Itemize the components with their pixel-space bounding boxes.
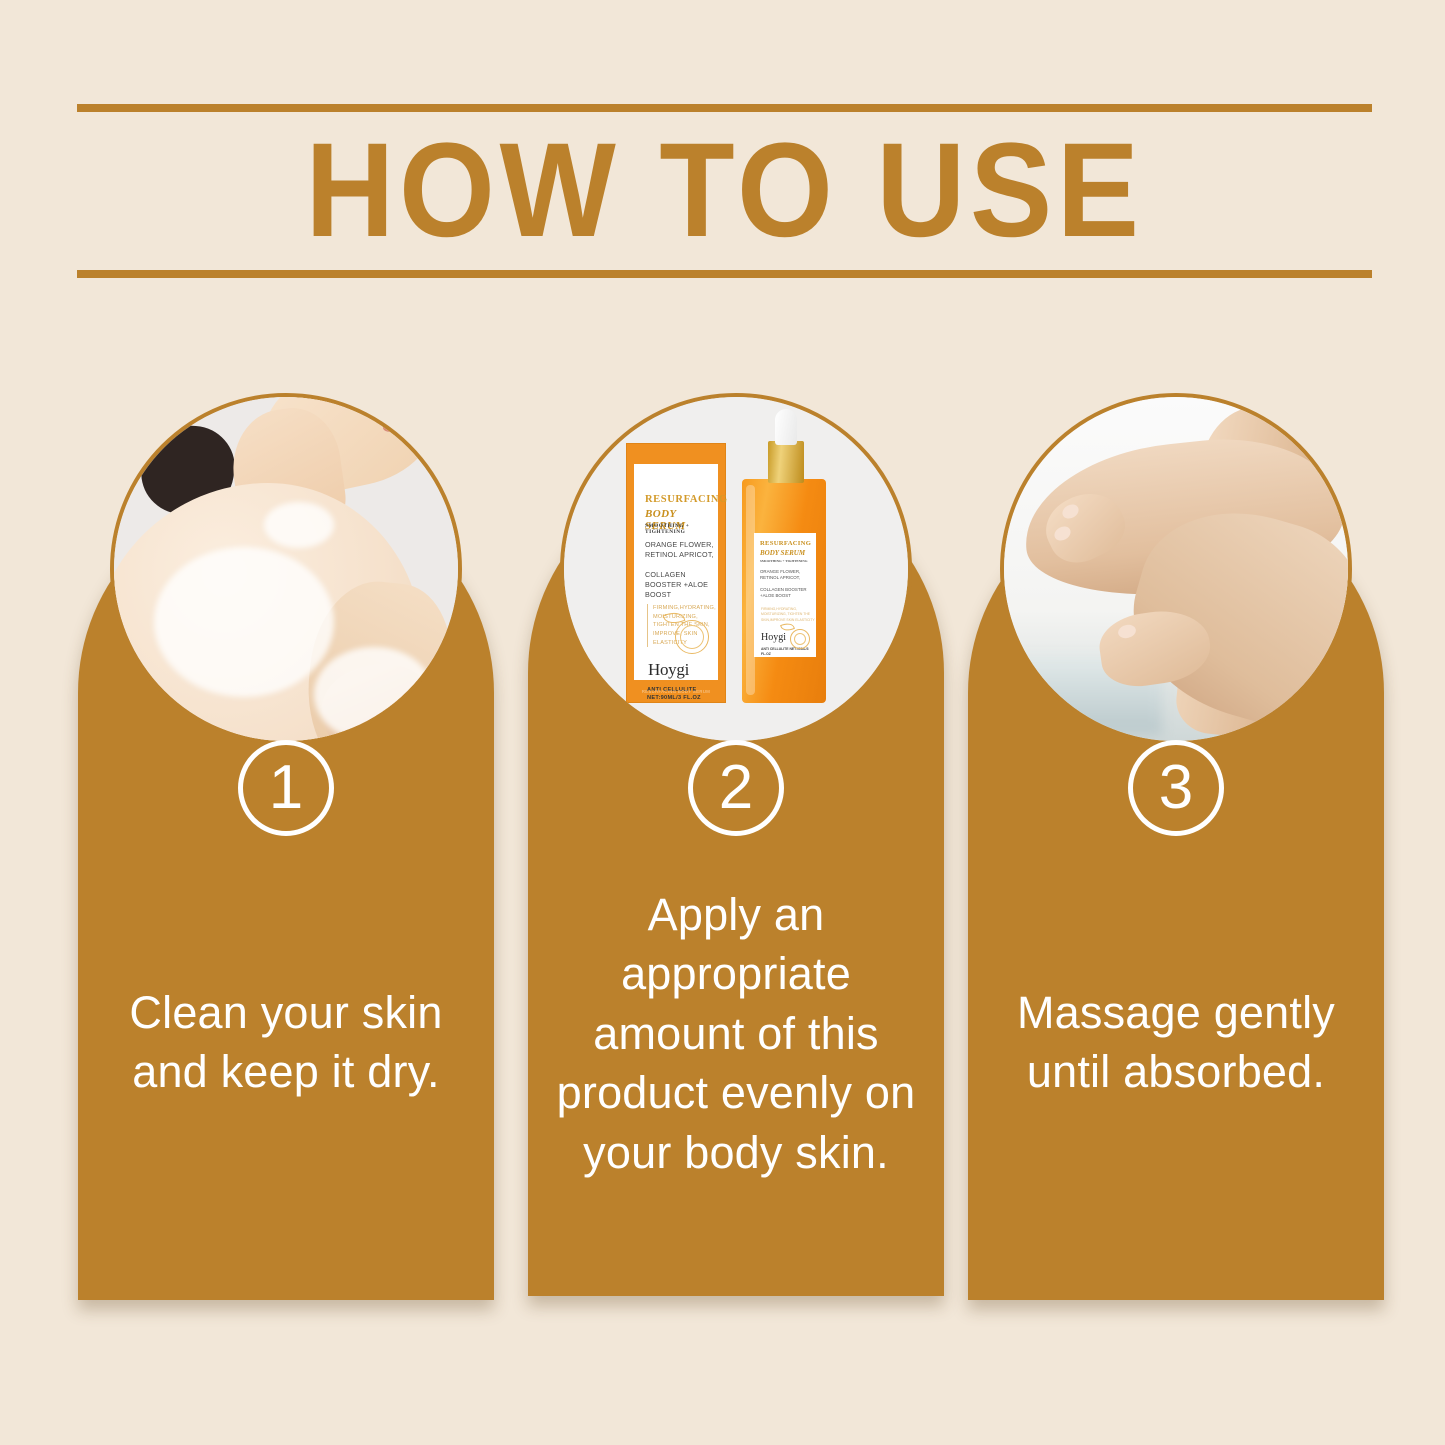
steps-container: 1 Clean your skin and keep it dry. RESUR… — [0, 0, 1445, 1445]
dropper-cap — [775, 409, 797, 445]
bottle-benefits: FIRMING,HYDRATING, MOISTURIZING, TIGHTEN… — [761, 607, 816, 623]
step-3-number-badge: 3 — [1128, 740, 1224, 836]
bottle-collar — [768, 441, 804, 483]
step-card-2: RESURFACING BODY SERUM SMOOTHING + TIGHT… — [528, 465, 944, 1296]
foam-patch — [264, 502, 334, 548]
bottle-ingredients-1: ORANGE FLOWER, RETINOL APRICOT, — [760, 569, 816, 582]
box-heading-1: RESURFACING — [645, 494, 728, 505]
bottle-heading-2: BODY SERUM — [760, 549, 805, 557]
box-brand: Hoygi — [648, 660, 689, 680]
box-footer-text: RESURFACING BODY SERUM — [627, 680, 725, 702]
orange-slice-icon — [675, 620, 709, 654]
bottle-claim: ANTI CELLULITE NET:90ML/3 FL.OZ — [761, 647, 816, 657]
bottle-heading-1: RESURFACING — [760, 540, 811, 547]
step-1-photo — [110, 393, 462, 745]
box-heading-3: SMOOTHING + TIGHTENING — [645, 523, 718, 535]
box-ingredients-1: ORANGE FLOWER, RETINOL APRICOT, — [645, 540, 718, 560]
step-3-caption: Massage gently until absorbed. — [982, 983, 1370, 1102]
step-3-photo — [1000, 393, 1352, 745]
bottle-ingredients-2: COLLAGEN BOOSTER +ALOE BOOST — [760, 587, 816, 600]
step-2-number-badge: 2 — [688, 740, 784, 836]
step-2-photo: RESURFACING BODY SERUM SMOOTHING + TIGHT… — [560, 393, 912, 745]
serum-bottle: RESURFACING BODY SERUM SMOOTHING + TIGHT… — [742, 479, 826, 703]
step-card-3: 3 Massage gently until absorbed. — [968, 485, 1384, 1300]
step-card-1: 1 Clean your skin and keep it dry. — [78, 485, 494, 1300]
foam-patch — [314, 647, 434, 741]
step-2-caption: Apply an appropriate amount of this prod… — [542, 885, 930, 1182]
step-1-number-badge: 1 — [238, 740, 334, 836]
foam-patch — [154, 547, 334, 697]
orange-slice-icon — [790, 629, 810, 649]
bottle-heading-3: SMOOTHING + TIGHTENING — [760, 559, 807, 563]
bottle-brand: Hoygi — [761, 632, 786, 643]
box-ingredients-2: COLLAGEN BOOSTER +ALOE BOOST — [645, 570, 718, 601]
product-box: RESURFACING BODY SERUM SMOOTHING + TIGHT… — [626, 443, 726, 703]
step-1-caption: Clean your skin and keep it dry. — [92, 983, 480, 1102]
